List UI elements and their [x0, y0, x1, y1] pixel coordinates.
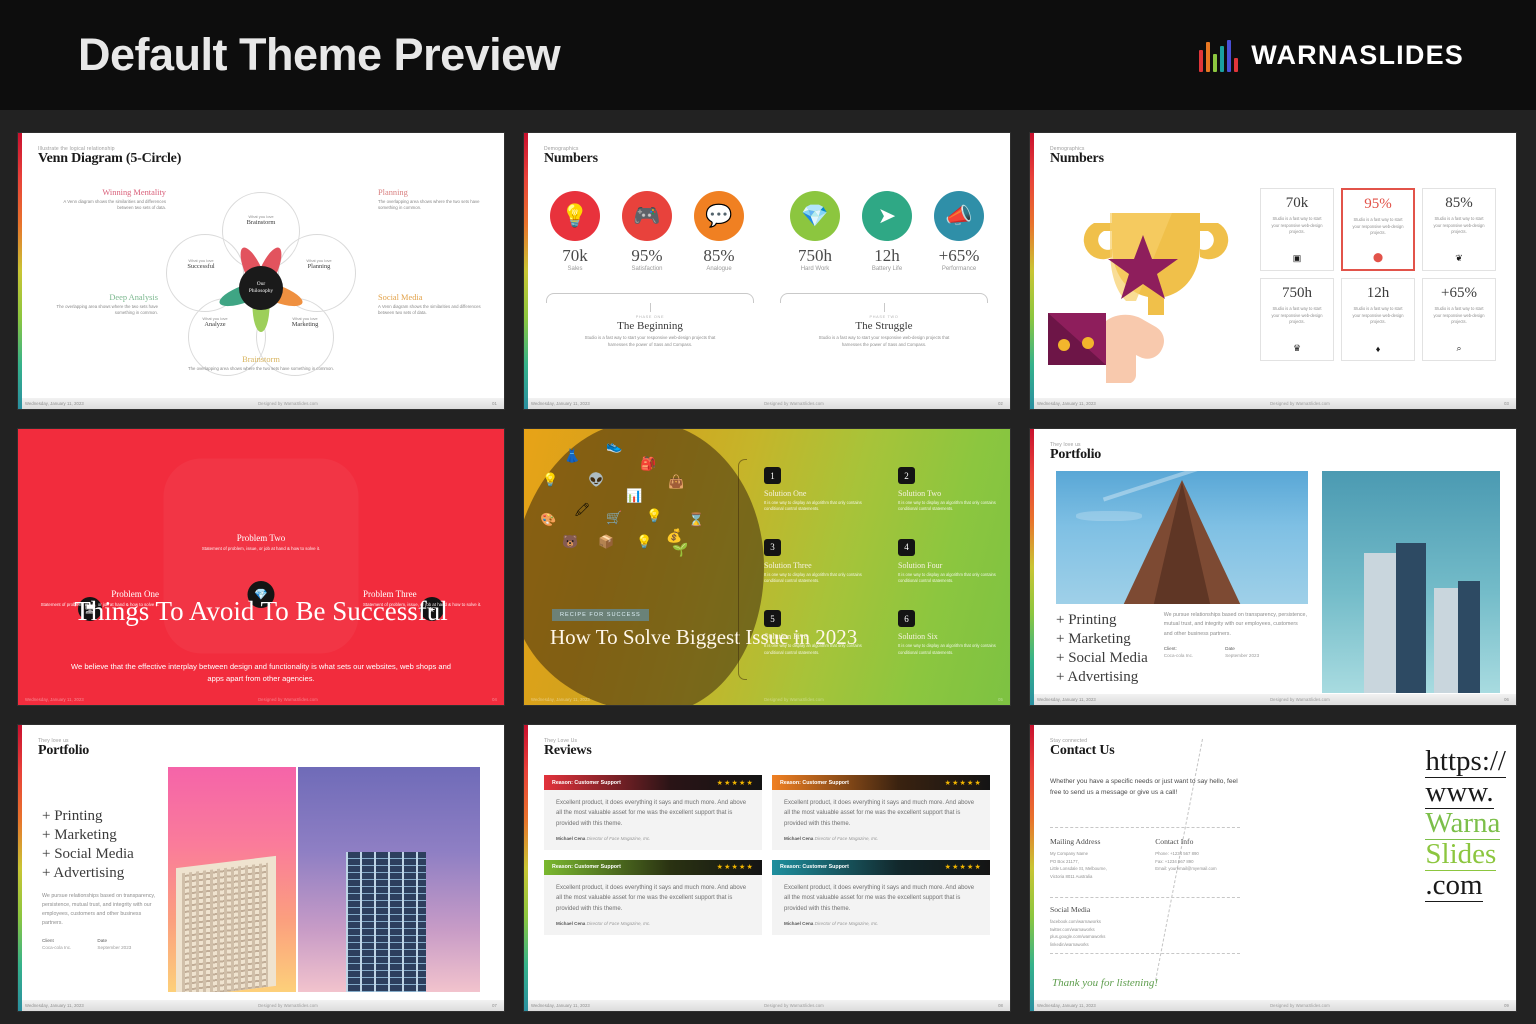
footer-credit: Designed by WarnaSlides.com — [764, 401, 824, 406]
slide-header: They love us Portfolio — [38, 738, 89, 759]
venn-core: Our Philosophy — [239, 266, 283, 310]
social-media-block: Social Media facebook.com/warnaworks twi… — [1050, 905, 1200, 948]
stat-card[interactable]: +65% Studio is a fast way to start your … — [1422, 278, 1496, 361]
divider — [1050, 897, 1240, 898]
portfolio-body: We pursue relationships based on transpa… — [1164, 611, 1308, 639]
slide-header: They love us Portfolio — [1050, 442, 1101, 463]
chat-icon: 💬 — [694, 191, 744, 241]
venn-inner-label-brainstorm: What you love Brainstorm — [220, 214, 302, 226]
slide-accent-edge — [1030, 133, 1034, 409]
portfolio-meta: Client:Coca-cola Inc. DateSeptember 2023 — [1164, 646, 1308, 660]
website-url[interactable]: https:// www. Warna Slides .com — [1425, 747, 1506, 902]
slide-header: Demographics Numbers — [544, 146, 598, 167]
crown-icon: ♛ — [1293, 343, 1301, 354]
review-card[interactable]: Reason: Customer Support ★★★★★ Excellent… — [772, 860, 990, 935]
solution-item[interactable]: 5 Solution Five It is one way to display… — [764, 610, 862, 656]
purple-building-photo — [298, 767, 480, 992]
slide-venn-diagram[interactable]: Illustrate the logical relationship Venn… — [18, 133, 504, 409]
footer-page: 07 — [492, 1003, 497, 1008]
services-list: + Printing + Marketing + Social Media + … — [42, 807, 160, 883]
stat-card[interactable]: 12h Studio is a fast way to start your r… — [1341, 278, 1415, 361]
stat-card[interactable]: 750h Studio is a fast way to start your … — [1260, 278, 1334, 361]
badge-icon: ⬤ — [1373, 252, 1383, 263]
slide-accent-edge — [18, 133, 22, 409]
slide-footer: Wednesday, January 11, 2023 Designed by … — [1030, 1000, 1516, 1011]
slide-footer: Wednesday, January 11, 2023 Designed by … — [524, 398, 1010, 409]
divider — [1050, 953, 1240, 954]
megaphone-icon: 📣 — [934, 191, 984, 241]
venn-note-brainstorm: Brainstorm The overlapping area shows wh… — [186, 355, 336, 372]
search-icon: ⌕ — [1456, 343, 1461, 354]
solution-item[interactable]: 1 Solution One It is one way to display … — [764, 467, 862, 513]
review-card[interactable]: Reason: Customer Support ★★★★★ Excellent… — [544, 775, 762, 850]
slide-accent-edge — [1030, 725, 1034, 1011]
cursor-icon: ➤ — [862, 191, 912, 241]
solution-item[interactable]: 6 Solution Six It is one way to display … — [898, 610, 996, 656]
footer-date: Wednesday, January 11, 2023 — [1037, 697, 1096, 702]
towers-illustration — [1322, 471, 1500, 693]
slide-reviews[interactable]: They Love Us Reviews Reason: Customer Su… — [524, 725, 1010, 1011]
slide-footer: Wednesday, January 11, 2023 Designed by … — [18, 694, 504, 705]
reviews-grid: Reason: Customer Support ★★★★★ Excellent… — [544, 775, 990, 935]
stat-card-highlighted[interactable]: 95% Studio is a fast way to start your r… — [1341, 188, 1415, 271]
emoji-cloud-graphic: 👗 👟 🎒 💡 👽 📊 👜 🎨 🖍 🛒 💡 ⌛ 🐻 📦 💡 💰 🌱 — [536, 439, 736, 569]
phase-one: PHASE ONE The Beginning Studio is a fast… — [583, 315, 718, 348]
slide-title: Numbers — [1050, 152, 1104, 167]
venn-note-deep-analysis: Deep Analysis The overlapping area shows… — [46, 293, 158, 317]
footer-page: 02 — [998, 401, 1003, 406]
venn-core-line1: Our — [257, 281, 265, 288]
page-title: Default Theme Preview — [78, 29, 560, 81]
star-rating: ★★★★★ — [717, 779, 754, 787]
venn-diagram-graphic: Our Philosophy What you love Brainstorm … — [18, 133, 504, 409]
trophy-illustration — [1048, 193, 1238, 383]
stat-circles-row: 💡 70k Sales 🎮 95% Satisfaction 💬 85% Ana… — [544, 191, 990, 272]
stat-cards-grid: 70k Studio is a fast way to start your r… — [1260, 188, 1496, 361]
solution-item[interactable]: 2 Solution Two It is one way to display … — [898, 467, 996, 513]
venn-inner-label-analyze: What you love Analyze — [174, 316, 256, 328]
stat-item[interactable]: 💎 750h Hard Work — [784, 191, 846, 272]
slide-numbers-trophy[interactable]: Demographics Numbers 70k Studio is a fas… — [1030, 133, 1516, 409]
slide-title: Things To Avoid To Be Successful — [18, 597, 504, 625]
slide-header: Stay connected Contact Us — [1050, 738, 1115, 759]
thank-you-note: Thank you for listening! — [1052, 977, 1158, 989]
gamepad-icon: 🎮 — [622, 191, 672, 241]
stat-item[interactable]: 🎮 95% Satisfaction — [616, 191, 678, 272]
pink-building-photo — [168, 767, 296, 992]
stat-group-two: 💎 750h Hard Work ➤ 12h Battery Life 📣 +6… — [784, 191, 990, 272]
footer-date: Wednesday, January 11, 2023 — [531, 1003, 590, 1008]
footer-page: 01 — [492, 401, 497, 406]
footer-credit: Designed by WarnaSlides.com — [258, 1003, 318, 1008]
brace-icon — [780, 293, 988, 313]
slides-grid: Illustrate the logical relationship Venn… — [0, 110, 1536, 1011]
footer-credit: Designed by WarnaSlides.com — [1270, 1003, 1330, 1008]
slide-title: Portfolio — [1050, 448, 1101, 463]
footer-date: Wednesday, January 11, 2023 — [531, 697, 590, 702]
bar-chart-icon: ▣ — [1293, 253, 1302, 264]
footer-credit: Designed by WarnaSlides.com — [258, 697, 318, 702]
slide-accent-edge — [18, 725, 22, 1011]
footer-date: Wednesday, January 11, 2023 — [1037, 1003, 1096, 1008]
star-rating: ★★★★★ — [945, 863, 982, 871]
slide-header: Demographics Numbers — [1050, 146, 1104, 167]
slide-title: Contact Us — [1050, 744, 1115, 759]
slide-numbers-circles[interactable]: Demographics Numbers 💡 70k Sales 🎮 95% S… — [524, 133, 1010, 409]
venn-core-line2: Philosophy — [249, 288, 273, 295]
footer-credit: Designed by WarnaSlides.com — [1270, 697, 1330, 702]
footer-credit: Designed by WarnaSlides.com — [258, 401, 318, 406]
diamond-icon: ♦ — [1376, 344, 1381, 354]
venn-inner-label-marketing: What you love Marketing — [264, 316, 346, 328]
venn-note-winning-mentality: Winning Mentality A Venn diagram shows t… — [54, 188, 166, 212]
portfolio-text: + Printing + Marketing + Social Media + … — [42, 807, 160, 951]
app-header: Default Theme Preview WARNASLIDES — [0, 0, 1536, 110]
slide-footer: Wednesday, January 11, 2023 Designed by … — [1030, 398, 1516, 409]
slide-accent-edge — [524, 725, 528, 1011]
review-card[interactable]: Reason: Customer Support ★★★★★ Excellent… — [772, 775, 990, 850]
stat-card[interactable]: 70k Studio is a fast way to start your r… — [1260, 188, 1334, 271]
problem-two: Problem Two Statement of problem, issue,… — [199, 533, 324, 552]
footer-date: Wednesday, January 11, 2023 — [25, 1003, 84, 1008]
slide-header: They Love Us Reviews — [544, 738, 592, 759]
footer-credit: Designed by WarnaSlides.com — [764, 1003, 824, 1008]
stat-card[interactable]: 85% Studio is a fast way to start your r… — [1422, 188, 1496, 271]
slide-portfolio-gradient[interactable]: They love us Portfolio + Printing + Mark… — [18, 725, 504, 1011]
solution-item[interactable]: 4 Solution Four It is one way to display… — [898, 539, 996, 585]
solutions-grid: 1 Solution One It is one way to display … — [764, 467, 996, 656]
phase-braces: PHASE ONE The Beginning Studio is a fast… — [546, 293, 988, 348]
brace-icon — [546, 293, 754, 313]
slide-accent-edge — [1030, 429, 1034, 705]
footer-page: 08 — [998, 1003, 1003, 1008]
footer-page: 06 — [1504, 697, 1509, 702]
contact-intro: Whether you have a specific needs or jus… — [1050, 777, 1240, 798]
slide-things-to-avoid[interactable]: 🖥 💎 ⚹ Problem One Statement of problem, … — [18, 429, 504, 705]
contact-columns: Mailing Address My Company Name PO Box 2… — [1050, 837, 1250, 880]
brand-logo: WARNASLIDES — [1199, 38, 1464, 72]
portfolio-body: We pursue relationships based on transpa… — [42, 892, 160, 929]
brand-name: WARNASLIDES — [1251, 40, 1464, 71]
slide-footer: Wednesday, January 11, 2023 Designed by … — [1030, 694, 1516, 705]
footer-credit: Designed by WarnaSlides.com — [764, 697, 824, 702]
solution-item[interactable]: 3 Solution Three It is one way to displa… — [764, 539, 862, 585]
footer-date: Wednesday, January 11, 2023 — [25, 697, 84, 702]
skyscraper-photo — [1056, 471, 1308, 604]
footer-date: Wednesday, January 11, 2023 — [531, 401, 590, 406]
footer-page: 05 — [998, 697, 1003, 702]
star-rating: ★★★★★ — [717, 863, 754, 871]
divider — [1050, 827, 1240, 828]
footer-date: Wednesday, January 11, 2023 — [1037, 401, 1096, 406]
stat-item[interactable]: 📣 +65% Performance — [928, 191, 990, 272]
venn-inner-label-planning: What you love Planning — [278, 258, 360, 270]
stat-item[interactable]: 💡 70k Sales — [544, 191, 606, 272]
footer-credit: Designed by WarnaSlides.com — [1270, 401, 1330, 406]
brand-bars-icon — [1199, 38, 1239, 72]
slide-footer: Wednesday, January 11, 2023 Designed by … — [18, 398, 504, 409]
slide-contact-us[interactable]: Stay connected Contact Us Whether you ha… — [1030, 725, 1516, 1011]
footer-page: 03 — [1504, 401, 1509, 406]
lightbulb-icon: 💡 — [550, 191, 600, 241]
footer-page: 04 — [492, 697, 497, 702]
mailing-address-block: Mailing Address My Company Name PO Box 2… — [1050, 837, 1137, 880]
stat-item[interactable]: ➤ 12h Battery Life — [856, 191, 918, 272]
slide-title: Portfolio — [38, 744, 89, 759]
review-card[interactable]: Reason: Customer Support ★★★★★ Excellent… — [544, 860, 762, 935]
stat-group-one: 💡 70k Sales 🎮 95% Satisfaction 💬 85% Ana… — [544, 191, 750, 272]
stat-item[interactable]: 💬 85% Analogue — [688, 191, 750, 272]
slide-subtitle: We believe that the effective interplay … — [62, 661, 460, 685]
slide-portfolio-towers[interactable]: They love us Portfolio + Printing + Mark… — [1030, 429, 1516, 705]
diamond-heart-icon: 💎 — [790, 191, 840, 241]
slide-footer: Wednesday, January 11, 2023 Designed by … — [524, 694, 1010, 705]
phase-two: PHASE TWO The Struggle Studio is a fast … — [817, 315, 952, 348]
slide-title: Numbers — [544, 152, 598, 167]
footer-date: Wednesday, January 11, 2023 — [25, 401, 84, 406]
portfolio-meta: ClientCoca-cola Inc. DateSeptember 2023 — [42, 938, 160, 952]
portfolio-text: + Printing + Marketing + Social Media + … — [1056, 611, 1308, 687]
services-list: + Printing + Marketing + Social Media + … — [1056, 611, 1148, 687]
wings-icon: ❦ — [1455, 253, 1463, 264]
slide-accent-edge — [524, 133, 528, 409]
slide-footer: Wednesday, January 11, 2023 Designed by … — [524, 1000, 1010, 1011]
venn-note-planning: Planning The overlapping area shows wher… — [378, 188, 490, 212]
footer-page: 09 — [1504, 1003, 1509, 1008]
slide-title: Reviews — [544, 744, 592, 759]
slide-how-to-solve[interactable]: 👗 👟 🎒 💡 👽 📊 👜 🎨 🖍 🛒 💡 ⌛ 🐻 📦 💡 💰 🌱 RECIPE… — [524, 429, 1010, 705]
venn-inner-label-successful: What you love Successful — [160, 258, 242, 270]
venn-note-social-media: Social Media A Venn diagram shows the si… — [378, 293, 490, 317]
bracket-icon — [738, 459, 747, 680]
star-rating: ★★★★★ — [945, 779, 982, 787]
recipe-tag: RECIPE FOR SUCCESS — [552, 609, 649, 621]
contact-info-block: Contact Info Phone: +1234 567 890 Fax: +… — [1155, 837, 1250, 880]
slide-footer: Wednesday, January 11, 2023 Designed by … — [18, 1000, 504, 1011]
